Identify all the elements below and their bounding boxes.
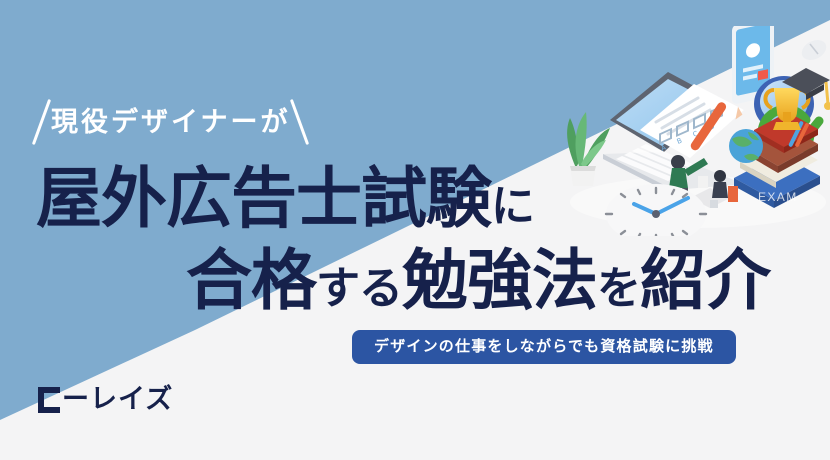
logo-c-mark-icon (38, 387, 60, 413)
brand-logo[interactable]: ーレイズ (38, 386, 173, 413)
logo-wordmark: ーレイズ (62, 386, 173, 413)
hero-banner: A B C D (0, 0, 830, 460)
exam-watermark-label: EXAM (758, 190, 798, 204)
mouse-icon (798, 36, 829, 64)
eyebrow-line: 現役デザイナーが (40, 98, 301, 146)
study-illustration: A B C D (548, 26, 830, 236)
globe-icon (729, 129, 763, 163)
plant-icon (567, 112, 610, 186)
status-badge: デザインの仕事をしながらでも資格試験に挑戦 (352, 330, 736, 364)
eyebrow-text: 現役デザイナーが (51, 109, 290, 136)
